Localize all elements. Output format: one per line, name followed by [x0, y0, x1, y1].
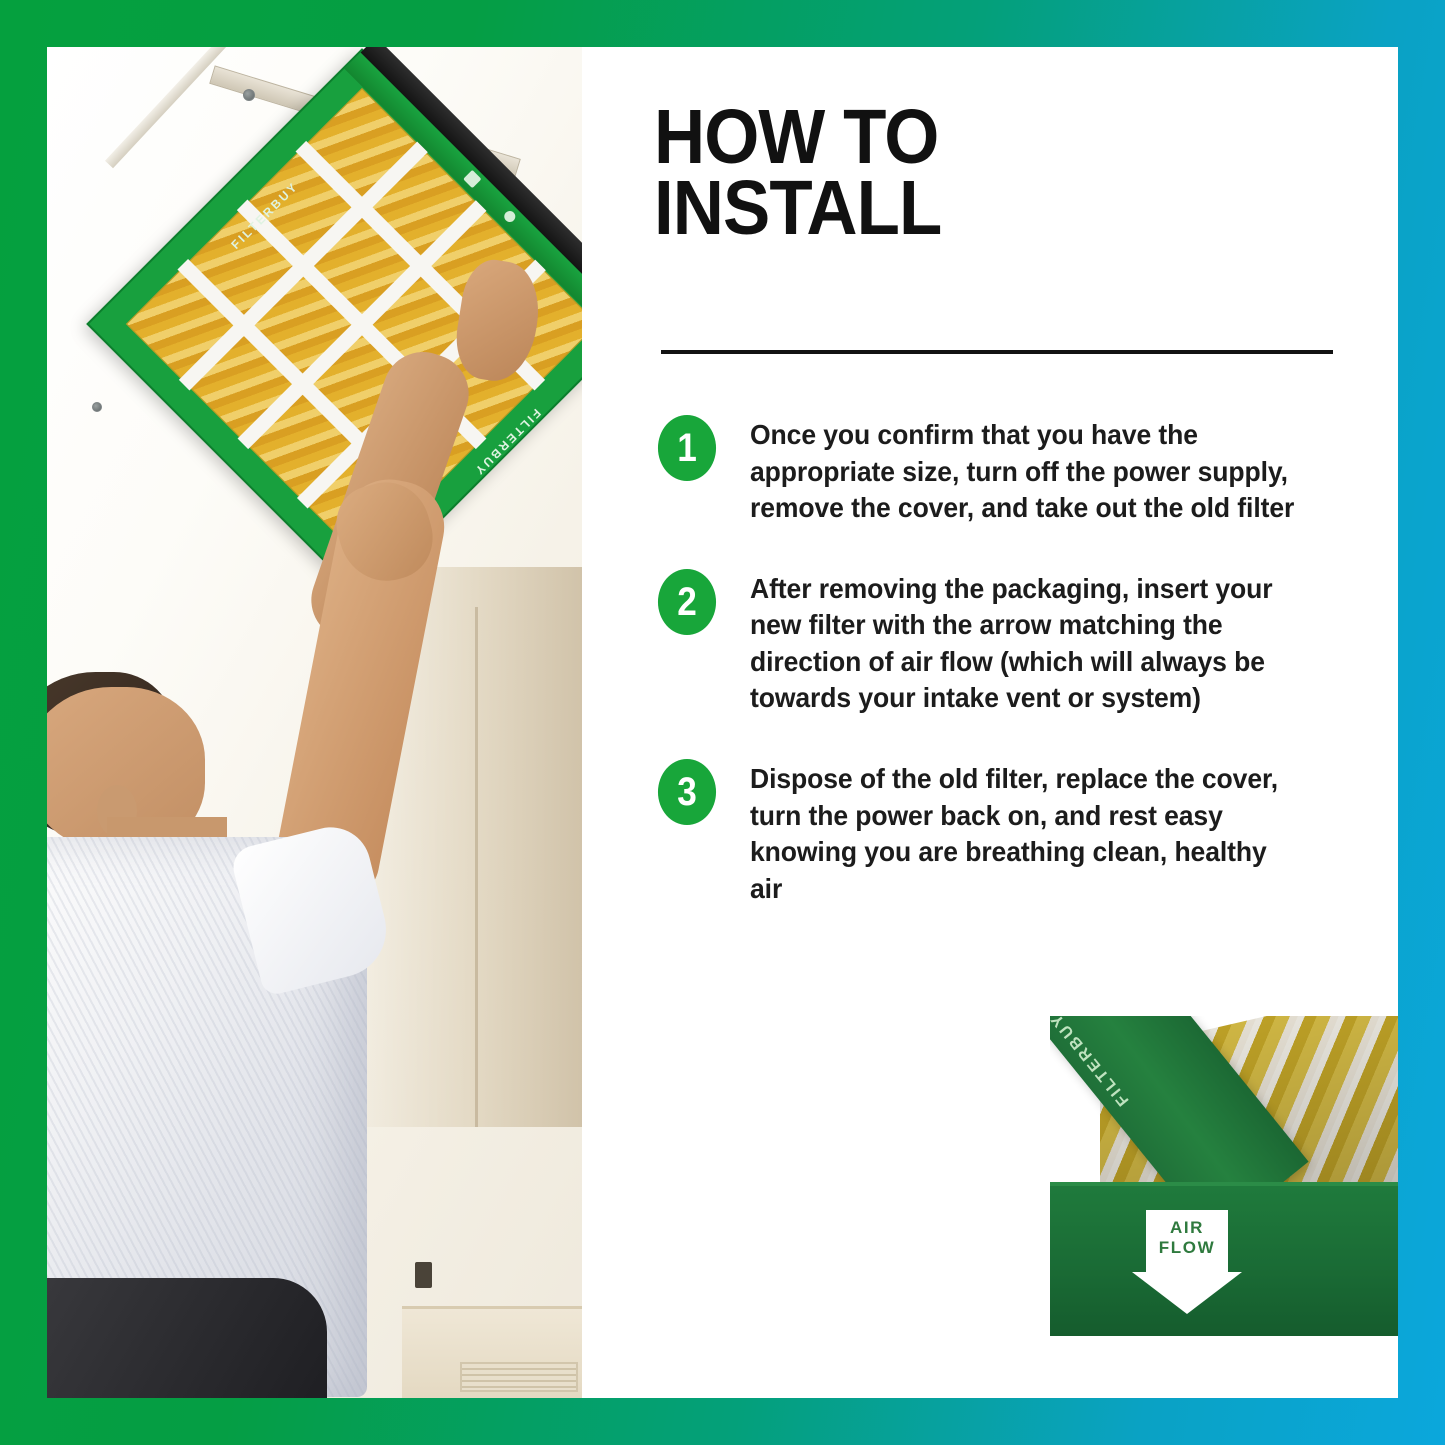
- title-divider: [661, 350, 1333, 354]
- air-flow-label-line-1: AIR: [1132, 1218, 1242, 1238]
- step-text: Once you confirm that you have the appro…: [750, 417, 1304, 527]
- installation-photo: FILTERBUY FILTERBUY: [47, 47, 582, 1398]
- list-item: 3 Dispose of the old filter, replace the…: [654, 761, 1344, 907]
- photo-wall-corner: [475, 607, 478, 1127]
- page-title-line-2: INSTALL: [654, 173, 1289, 244]
- step-text: After removing the packaging, insert you…: [750, 571, 1304, 717]
- air-flow-label-line-2: FLOW: [1132, 1238, 1242, 1258]
- page-title: HOW TO INSTALL: [654, 102, 1289, 244]
- poster-canvas: FILTERBUY FILTERBUY HOW TO INSTALL: [47, 47, 1398, 1398]
- steps-list: 1 Once you confirm that you have the app…: [654, 417, 1344, 951]
- person-pants: [47, 1278, 327, 1398]
- poster-frame: FILTERBUY FILTERBUY HOW TO INSTALL: [0, 0, 1445, 1445]
- step-number-badge: 2: [658, 569, 716, 635]
- list-item: 2 After removing the packaging, insert y…: [654, 571, 1344, 717]
- step-number-badge: 3: [658, 759, 716, 825]
- screw-icon-2: [92, 402, 102, 412]
- photo-wall-outlet: [415, 1262, 432, 1288]
- screw-icon: [243, 89, 255, 101]
- air-flow-arrow-icon: AIR FLOW: [1132, 1210, 1242, 1314]
- step-number-badge: 1: [658, 415, 716, 481]
- step-text: Dispose of the old filter, replace the c…: [750, 761, 1304, 907]
- page-title-line-1: HOW TO: [654, 102, 1289, 173]
- air-flow-label: AIR FLOW: [1132, 1218, 1242, 1259]
- product-filter-photo: FILTERBUY AIR FLOW: [1050, 1016, 1398, 1356]
- air-flow-arrow-head: [1132, 1272, 1242, 1314]
- photo-floor-vent: [460, 1362, 578, 1392]
- list-item: 1 Once you confirm that you have the app…: [654, 417, 1344, 527]
- content-column: HOW TO INSTALL 1 Once you confirm that y…: [654, 47, 1398, 1398]
